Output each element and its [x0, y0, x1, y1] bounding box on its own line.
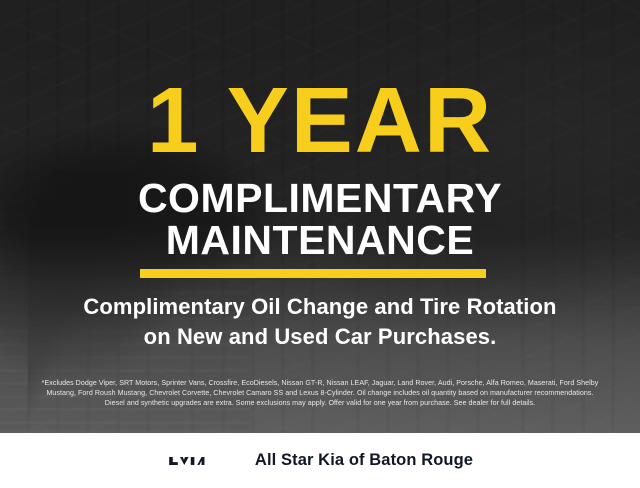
- headline-secondary-line-2: MAINTENANCE: [0, 220, 640, 261]
- advertisement-banner: 1 YEAR COMPLIMENTARY MAINTENANCE Complim…: [0, 0, 640, 488]
- kia-logo: [167, 452, 239, 470]
- yellow-divider-rule: [140, 269, 486, 278]
- subheadline-line-2: on New and Used Car Purchases.: [0, 322, 640, 352]
- subheadline: Complimentary Oil Change and Tire Rotati…: [0, 292, 640, 352]
- headline-primary: 1 YEAR: [0, 76, 640, 164]
- headline-secondary-line-1: COMPLIMENTARY: [0, 178, 640, 219]
- disclaimer-text: *Excludes Dodge Viper, SRT Motors, Sprin…: [14, 378, 626, 408]
- hero-banner: 1 YEAR COMPLIMENTARY MAINTENANCE Complim…: [0, 0, 640, 433]
- disclaimer-line-2: Mustang, Ford Roush Mustang, Chevrolet C…: [14, 388, 626, 398]
- disclaimer-line-1: *Excludes Dodge Viper, SRT Motors, Sprin…: [14, 378, 626, 388]
- banner-content: 1 YEAR COMPLIMENTARY MAINTENANCE Complim…: [0, 0, 640, 433]
- dealer-name: All Star Kia of Baton Rouge: [255, 451, 473, 470]
- disclaimer-line-3: Diesel and synthetic upgrades are extra.…: [14, 398, 626, 408]
- dealer-footer: All Star Kia of Baton Rouge: [0, 433, 640, 488]
- subheadline-line-1: Complimentary Oil Change and Tire Rotati…: [0, 292, 640, 322]
